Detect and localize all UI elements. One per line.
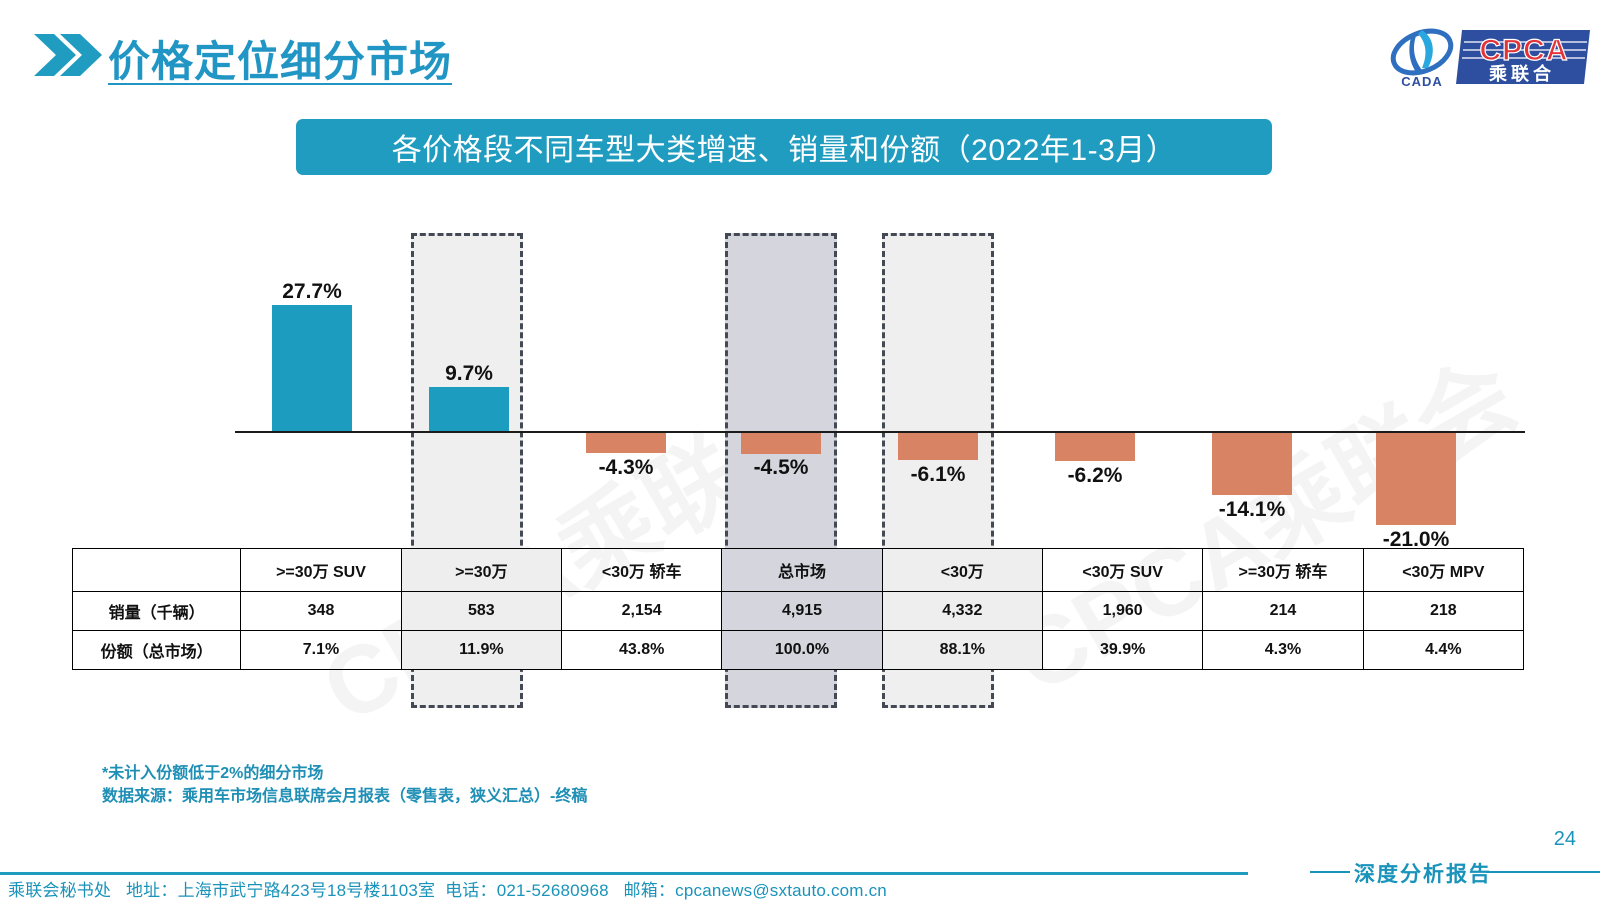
double-chevron-right-icon <box>34 34 104 76</box>
slide-header: 价格定位细分市场 CADA CPCA 乘联合 <box>0 0 1600 100</box>
chart-title-text: 各价格段不同车型大类增速、销量和份额（2022年1-3月） <box>392 125 1177 169</box>
footer-address: 上海市武宁路423号18号楼1103室 <box>178 881 436 900</box>
bar-gte30w-suv <box>272 305 352 431</box>
table-cell: 4.3% <box>1203 631 1363 670</box>
svg-text:乘联合: 乘联合 <box>1488 63 1555 84</box>
table-col-header: <30万 <box>882 549 1042 592</box>
table-col-header: >=30万 SUV <box>241 549 401 592</box>
bar-chart: CPCA乘联会 CPCA乘联会 27.7% 9.7% -4.3% -4.5% -… <box>0 200 1600 760</box>
table-cell: 218 <box>1363 592 1523 631</box>
footer-phone-label: 电话： <box>445 881 497 900</box>
table-cell: 2,154 <box>562 592 722 631</box>
bar-label-lt30w: -6.1% <box>898 463 978 487</box>
table-cell: 348 <box>241 592 401 631</box>
bar-gte30w <box>429 387 509 431</box>
table-col-header: >=30万 轿车 <box>1203 549 1363 592</box>
table-cell: 583 <box>401 592 561 631</box>
table-row-label: 份额（总市场） <box>73 631 241 670</box>
data-table: >=30万 SUV >=30万 <30万 轿车 总市场 <30万 <30万 SU… <box>72 548 1524 670</box>
bar-gte30w-sedan <box>1212 433 1292 495</box>
bar-label-lt30w-suv: -6.2% <box>1055 464 1135 488</box>
table-cell: 100.0% <box>722 631 882 670</box>
page-number: 24 <box>1554 828 1576 851</box>
table-col-header: >=30万 <box>401 549 561 592</box>
footer-brand-block: 深度分析报告 24 <box>1310 840 1600 900</box>
footer-brand-rule-left <box>1310 871 1350 873</box>
table-cell: 43.8% <box>562 631 722 670</box>
footer-address-label: 地址： <box>126 881 178 900</box>
footer-org: 乘联会秘书处 <box>8 881 111 900</box>
bar-lt30w-mpv <box>1376 433 1456 525</box>
footer-divider <box>0 872 1248 875</box>
bar-label-gte30w-sedan: -14.1% <box>1212 498 1292 522</box>
footer-email-label: 邮箱： <box>624 881 676 900</box>
bar-label-gte30w: 9.7% <box>429 362 509 386</box>
table-corner-cell <box>73 549 241 592</box>
table-col-header: <30万 MPV <box>1363 549 1523 592</box>
bar-lt30w <box>898 433 978 460</box>
table-col-header: <30万 SUV <box>1042 549 1202 592</box>
table-col-header: 总市场 <box>722 549 882 592</box>
footer-brand-rule-right <box>1486 871 1600 873</box>
zero-axis-line <box>235 431 1525 433</box>
footer-brand-text: 深度分析报告 <box>1354 858 1492 888</box>
table-cell: 4,332 <box>882 592 1042 631</box>
svg-text:CPCA: CPCA <box>1479 34 1568 67</box>
table-row-label: 销量（千辆） <box>73 592 241 631</box>
table-cell: 1,960 <box>1042 592 1202 631</box>
bar-lt30w-suv <box>1055 433 1135 461</box>
table-cell: 39.9% <box>1042 631 1202 670</box>
bar-label-gte30w-suv: 27.7% <box>272 280 352 304</box>
footer-contact: 乘联会秘书处 地址：上海市武宁路423号18号楼1103室 电话：021-526… <box>8 876 887 901</box>
table-header-row: >=30万 SUV >=30万 <30万 轿车 总市场 <30万 <30万 SU… <box>73 549 1524 592</box>
table-row-sales: 销量（千辆） 348 583 2,154 4,915 4,332 1,960 2… <box>73 592 1524 631</box>
cpca-logo: CADA CPCA 乘联合 <box>1378 22 1590 94</box>
table-cell: 214 <box>1203 592 1363 631</box>
bar-label-lt30w-sedan: -4.3% <box>586 456 666 480</box>
footer-email[interactable]: cpcanews@sxtauto.com.cn <box>675 881 887 900</box>
table-col-header: <30万 轿车 <box>562 549 722 592</box>
table-cell: 4.4% <box>1363 631 1523 670</box>
svg-text:CADA: CADA <box>1401 74 1443 89</box>
bar-lt30w-sedan <box>586 433 666 453</box>
table-cell: 7.1% <box>241 631 401 670</box>
footer-phone: 021-52680968 <box>497 881 609 900</box>
chart-title-banner: 各价格段不同车型大类增速、销量和份额（2022年1-3月） <box>296 119 1272 175</box>
footnote-line-1: *未计入份额低于2%的细分市场 <box>102 762 587 785</box>
table-row-share: 份额（总市场） 7.1% 11.9% 43.8% 100.0% 88.1% 39… <box>73 631 1524 670</box>
table-cell: 11.9% <box>401 631 561 670</box>
table-cell: 88.1% <box>882 631 1042 670</box>
footnote-line-2: 数据来源：乘用车市场信息联席会月报表（零售表，狭义汇总）-终稿 <box>102 785 587 808</box>
bar-total-market <box>741 433 821 454</box>
table-cell: 4,915 <box>722 592 882 631</box>
bar-label-total-market: -4.5% <box>741 456 821 480</box>
footnotes: *未计入份额低于2%的细分市场 数据来源：乘用车市场信息联席会月报表（零售表，狭… <box>102 762 587 808</box>
page-title: 价格定位细分市场 <box>108 28 452 89</box>
